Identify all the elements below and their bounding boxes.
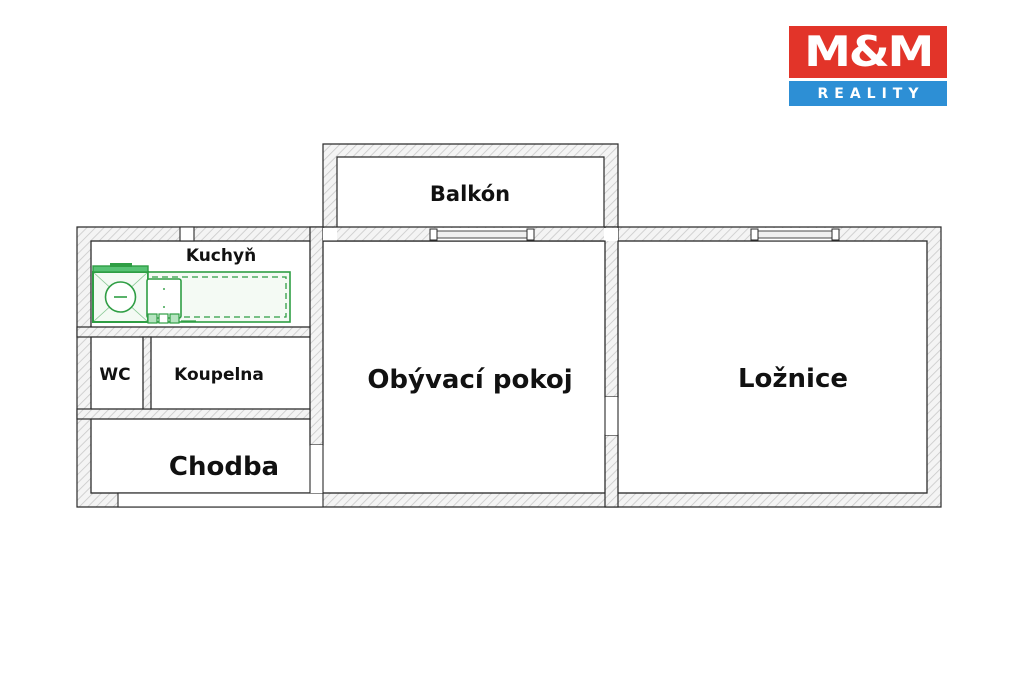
wall-living-bedroom-upper	[605, 227, 618, 397]
room-label-wc: WC	[99, 365, 130, 385]
bedroom-door-opening	[605, 397, 618, 435]
wall-living-bedroom-lower	[605, 435, 618, 507]
kitchen-vent-opening	[180, 227, 194, 241]
bedroom-window-opening	[751, 228, 839, 241]
wall-kitchen-bath	[77, 327, 310, 337]
room-label-balkon: Balkón	[430, 182, 510, 206]
wall-bath-hall	[77, 409, 310, 419]
balcony-door-opening	[430, 228, 534, 241]
kitchen-fixtures-group	[93, 263, 290, 323]
balcony-right-gap	[604, 228, 618, 241]
stove-fixture	[93, 263, 148, 322]
hall-living-door-opening	[310, 445, 323, 493]
wall-wc-bath	[143, 337, 151, 409]
wall-hall-living	[310, 227, 323, 445]
room-label-chodba: Chodba	[169, 452, 279, 482]
room-label-koupelna: Koupelna	[174, 365, 264, 385]
room-label-kuchyn: Kuchyň	[186, 246, 256, 266]
sink-fixture	[147, 279, 181, 318]
entrance-door-opening	[118, 493, 323, 507]
floor-plan-drawing	[0, 0, 1024, 683]
balcony-left-gap	[323, 228, 337, 241]
room-label-loznice: Ložnice	[738, 364, 848, 394]
room-label-obyvaci-pokoj: Obývací pokoj	[367, 365, 572, 395]
